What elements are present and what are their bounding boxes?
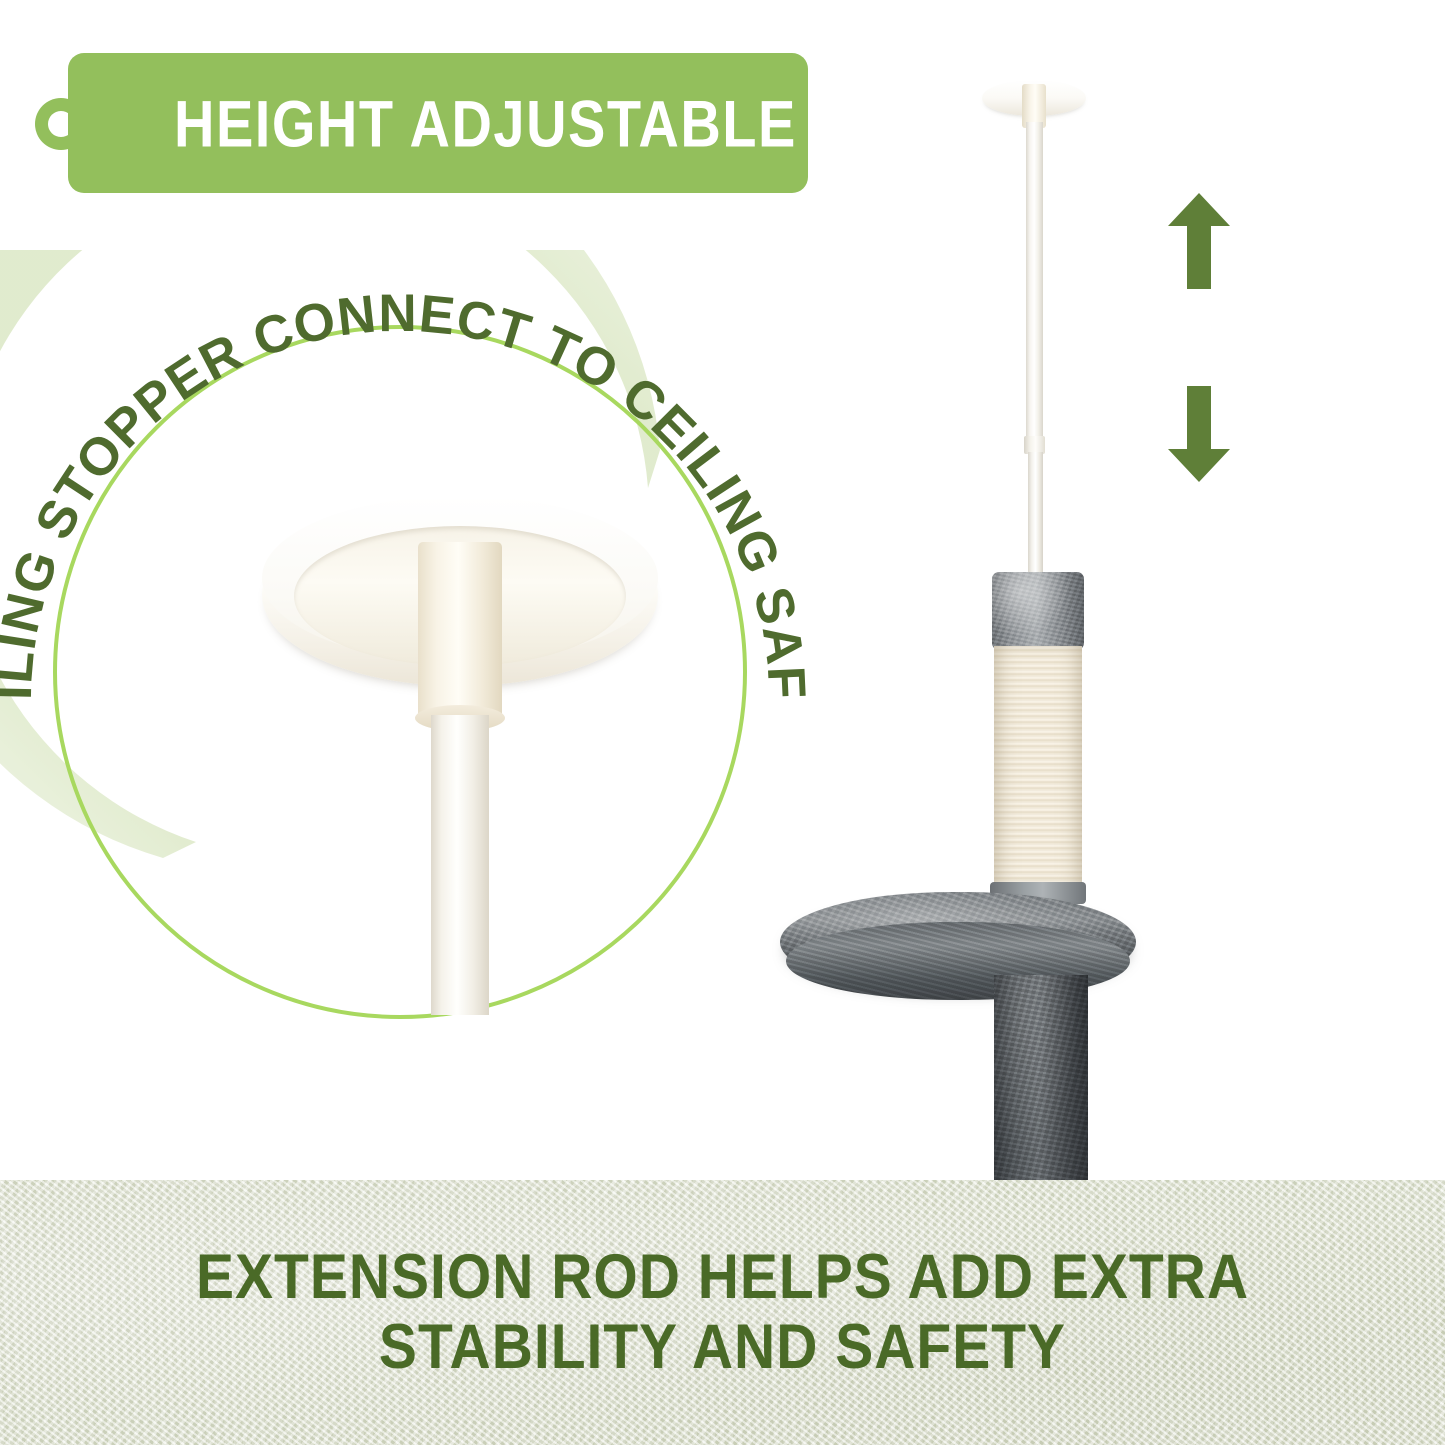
plush-collar	[992, 572, 1084, 650]
stopper-rod	[431, 715, 489, 1015]
arrow-down-icon	[1168, 386, 1230, 482]
telescoping-rod-upper	[1026, 122, 1043, 442]
ceiling-stopper-photo	[250, 490, 670, 1020]
bottom-caption-line-1: EXTENSION ROD HELPS ADD EXTRA	[196, 1239, 1249, 1315]
product-feature-graphic: HEIGHT ADJUSTABLE	[0, 0, 1445, 1445]
banner-label: HEIGHT ADJUSTABLE	[174, 85, 797, 162]
bottom-caption-line-2: STABILITY AND SAFETY	[379, 1309, 1066, 1385]
height-adjustable-banner: HEIGHT ADJUSTABLE	[68, 53, 808, 193]
sisal-scratching-post	[994, 646, 1082, 888]
cat-tree-product-photo	[760, 60, 1180, 1185]
arrow-up-icon	[1168, 193, 1230, 289]
stopper-collar	[418, 542, 502, 722]
plush-post-lower	[994, 975, 1088, 1187]
bottom-caption-band: EXTENSION ROD HELPS ADD EXTRA STABILITY …	[0, 1180, 1445, 1445]
telescoping-rod-lower	[1028, 452, 1043, 580]
